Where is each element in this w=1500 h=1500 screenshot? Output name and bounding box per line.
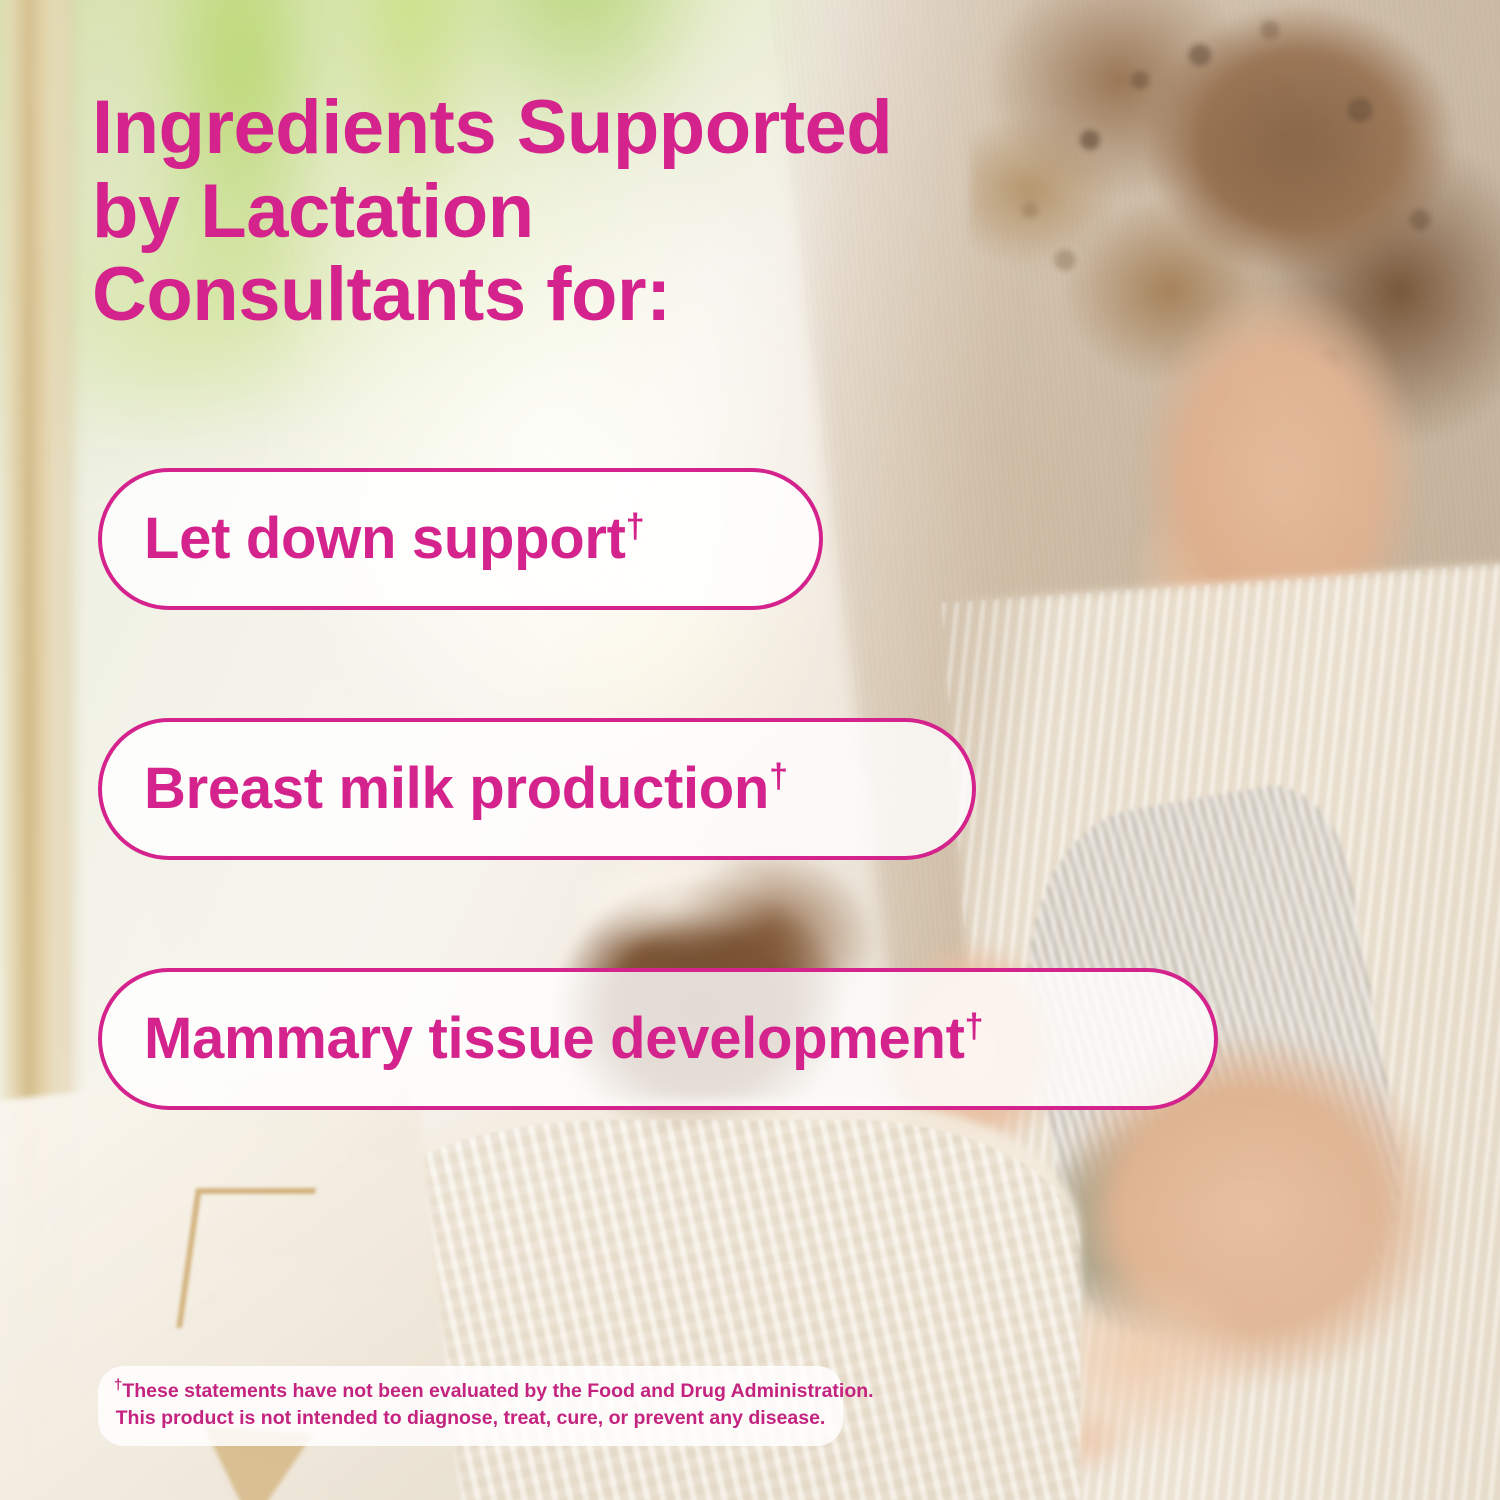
disclaimer-line-2: This product is not intended to diagnose…	[114, 1405, 827, 1432]
benefit-label: Mammary tissue development†	[144, 1010, 983, 1068]
overlay-content: Ingredients Supported by Lactation Consu…	[0, 0, 1500, 1500]
disclaimer-line-1: †These statements have not been evaluate…	[114, 1378, 827, 1405]
dagger-marker-icon: †	[769, 758, 788, 796]
fda-disclaimer: †These statements have not been evaluate…	[98, 1366, 843, 1446]
benefit-pill-mammary-tissue-development[interactable]: Mammary tissue development†	[98, 968, 1218, 1110]
benefit-label: Let down support†	[144, 510, 644, 568]
marketing-graphic: Ingredients Supported by Lactation Consu…	[0, 0, 1500, 1500]
benefit-label: Breast milk production†	[144, 760, 788, 818]
page-title: Ingredients Supported by Lactation Consu…	[92, 86, 1102, 337]
benefit-pill-let-down-support[interactable]: Let down support†	[98, 468, 823, 610]
dagger-marker-icon: †	[626, 508, 645, 546]
dagger-marker-icon: †	[965, 1008, 984, 1046]
benefit-pill-breast-milk-production[interactable]: Breast milk production†	[98, 718, 976, 860]
